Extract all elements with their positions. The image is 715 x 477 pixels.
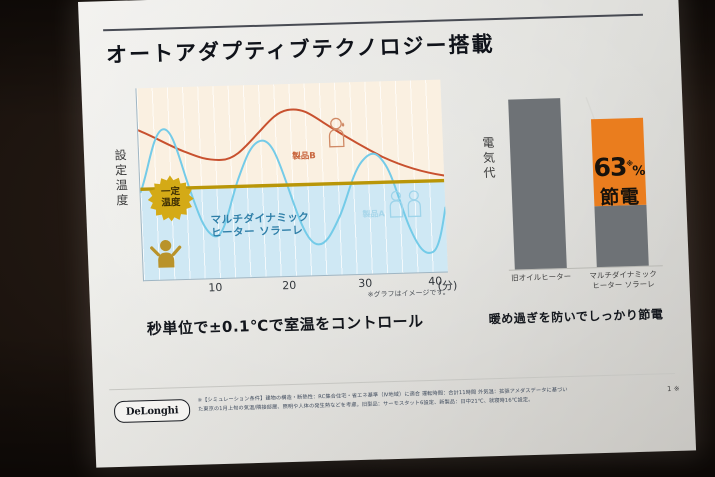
right-chart-y-axis-label: 電気代 xyxy=(480,136,499,181)
x-tick-30: 30 xyxy=(358,277,373,290)
constant-temperature-badge: 一定 温度 xyxy=(147,175,195,222)
savings-value: 63 xyxy=(593,152,627,182)
two-people-cold-icon xyxy=(387,188,428,219)
savings-percentage: 63※% xyxy=(592,152,645,182)
savings-word: 節電 xyxy=(594,182,647,210)
brand-name: DeLonghi xyxy=(126,405,179,418)
page-number: 1 ※ xyxy=(667,385,680,393)
person-raised-arms-icon xyxy=(148,235,183,270)
bar-old-segment-cost xyxy=(508,98,567,269)
bar-chart-plot-area: 63※% 節電 旧オイルヒーター マルチダイナミック ヒーター ソラーレ xyxy=(501,73,662,269)
electricity-cost-bar-chart: 電気代 63※% 節電 旧オイルヒーター xyxy=(475,73,663,293)
badge-line-2: 温度 xyxy=(161,198,180,209)
left-chart-y-axis-label: 設定温度 xyxy=(112,149,131,209)
badge-text: 一定 温度 xyxy=(147,175,195,222)
x-tick-20: 20 xyxy=(282,279,297,292)
bar-mdh-solare: 63※% 節電 xyxy=(591,118,649,267)
right-caption: 暖め過ぎを防いでしっかり節電 xyxy=(488,305,663,327)
footnote: ※【シミュレーション条件】建物の構造・断熱性：RC集合住宅・省エネ基準（Ⅳ地域）… xyxy=(198,384,639,414)
x-tick-10: 10 xyxy=(208,281,223,294)
bar-new-segment-savings: 63※% 節電 xyxy=(591,118,646,207)
chart-image-note: ※グラフはイメージです。 xyxy=(367,287,449,299)
left-caption: 秒単位で±0.1℃で室温をコントロール xyxy=(146,310,424,339)
bar-new-segment-cost xyxy=(594,205,648,267)
bar-old-label: 旧オイルヒーター xyxy=(498,272,584,285)
projected-slide: オートアダプティブテクノロジー搭載 設定温度 xyxy=(78,0,696,468)
person-sweating-icon xyxy=(324,116,351,149)
series-b-label: 製品B xyxy=(292,151,316,162)
bar-old-oil-heater xyxy=(508,98,567,269)
temperature-line-chart: 設定温度 xyxy=(109,80,447,304)
page-title: オートアダプティブテクノロジー搭載 xyxy=(105,28,495,69)
delonghi-logo: DeLonghi xyxy=(114,399,191,423)
title-divider xyxy=(103,14,643,32)
series-a-label: 製品A xyxy=(362,209,385,220)
savings-percent-sign: % xyxy=(632,164,645,179)
bar-new-label: マルチダイナミック ヒーター ソラーレ xyxy=(580,269,667,292)
series-mdh-label: マルチダイナミック ヒーター ソラーレ xyxy=(210,211,310,240)
bar-new-label-line2: ヒーター ソラーレ xyxy=(580,279,666,292)
